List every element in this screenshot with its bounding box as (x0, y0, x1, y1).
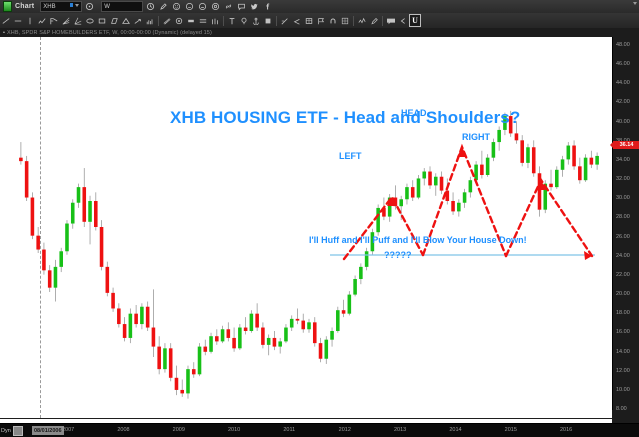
price-tick: 48.00 (616, 42, 630, 48)
flag-icon[interactable] (315, 14, 327, 27)
price-tick: 28.00 (616, 214, 630, 220)
table-icon[interactable] (303, 14, 315, 27)
price-tick: 16.00 (616, 329, 630, 335)
chart-canvas[interactable]: XHB HOUSING ETF - Head and Shoulders? LE… (0, 37, 612, 418)
date-tick: 2007 (62, 427, 74, 433)
date-tick: 2014 (449, 427, 461, 433)
balloon-icon[interactable] (238, 14, 250, 27)
app-logo-icon (3, 1, 12, 12)
smiley-neutral-icon[interactable] (184, 1, 195, 12)
vertical-line-icon[interactable] (24, 14, 36, 27)
price-tick: 40.00 (616, 119, 630, 125)
histogram-icon[interactable] (144, 14, 156, 27)
period-value: W (104, 4, 110, 10)
price-tick: 14.00 (616, 349, 630, 355)
fib-fan-icon[interactable] (60, 14, 72, 27)
twitter-icon[interactable] (249, 1, 260, 12)
comment-icon[interactable] (236, 1, 247, 12)
date-range-field[interactable]: 08/01/2006 (32, 426, 64, 435)
refresh-icon[interactable] (84, 1, 95, 12)
date-tick: 2008 (117, 427, 129, 433)
title-bar: Chart XHB W (0, 0, 639, 14)
pencil-icon[interactable] (158, 1, 169, 12)
symbol-indicator-icon (70, 3, 73, 7)
undo-icon[interactable] (397, 14, 409, 27)
left-shoulder-label: LEFT (339, 151, 362, 161)
toolbar-separator-5 (382, 16, 383, 26)
parallelogram-icon[interactable] (108, 14, 120, 27)
smiley-sad-icon[interactable] (197, 1, 208, 12)
date-tick: 2010 (228, 427, 240, 433)
arrow-left-icon[interactable] (291, 14, 303, 27)
price-tick: 18.00 (616, 310, 630, 316)
period-input[interactable]: W (101, 1, 143, 12)
zigzag-icon[interactable] (356, 14, 368, 27)
equal-bars-icon[interactable] (197, 14, 209, 27)
horizontal-line-icon[interactable] (12, 14, 24, 27)
crosshair-vertical-line (40, 37, 41, 418)
active-tool-button[interactable]: U (409, 14, 421, 27)
clock-icon[interactable] (145, 1, 156, 12)
price-tick: 10.00 (616, 387, 630, 393)
toolbar-separator-3 (276, 16, 277, 26)
toolbar-separator-4 (353, 16, 354, 26)
link-icon[interactable] (223, 1, 234, 12)
chevron-down-icon-2[interactable] (633, 2, 637, 5)
head-peak-arrow-icon (457, 147, 467, 157)
price-tick: 34.00 (616, 157, 630, 163)
eraser-icon[interactable] (368, 14, 380, 27)
ray-icon[interactable] (279, 14, 291, 27)
price-tick: 46.00 (616, 61, 630, 67)
price-tick: 22.00 (616, 272, 630, 278)
head-label: HEAD (401, 108, 427, 118)
anchor-icon[interactable] (250, 14, 262, 27)
rectangle-icon[interactable] (96, 14, 108, 27)
price-tick: 42.00 (616, 99, 630, 105)
axis-corner (612, 410, 639, 423)
date-tick: 2011 (283, 427, 295, 433)
instrument-info-text: XHB, SPDR S&P HOMEBUILDERS ETF, W, 00:00… (7, 30, 212, 36)
right-shoulder-label: RIGHT (462, 132, 490, 142)
facebook-icon[interactable] (262, 1, 273, 12)
trendline-icon[interactable] (0, 14, 12, 27)
date-tick: 2016 (560, 427, 572, 433)
chevron-down-icon[interactable] (75, 4, 79, 7)
bullet-icon: • (3, 30, 5, 36)
bars-pattern-icon[interactable] (185, 14, 197, 27)
chart-title-annotation: XHB HOUSING ETF - Head and Shoulders? (170, 108, 520, 128)
grid-icon[interactable] (339, 14, 351, 27)
toolbar-separator-2 (223, 16, 224, 26)
quote-annotation: I'll Huff and I'll Puff and I'll Blow Yo… (309, 235, 527, 245)
ellipse-icon[interactable] (84, 14, 96, 27)
chart-application: Chart XHB W (0, 0, 639, 436)
pitchfork-icon[interactable] (48, 14, 60, 27)
last-price-tag: 36.14 (613, 141, 639, 149)
target-icon[interactable] (210, 1, 221, 12)
pattern-overlay (0, 37, 612, 418)
smiley-icon[interactable] (171, 1, 182, 12)
date-axis[interactable]: Dyn 08/01/2006 2007200820092010201120122… (0, 423, 639, 437)
price-tick: 26.00 (616, 234, 630, 240)
price-tick: 44.00 (616, 80, 630, 86)
triangle-icon[interactable] (120, 14, 132, 27)
price-tick: 30.00 (616, 195, 630, 201)
price-tick: 24.00 (616, 253, 630, 259)
magnet-icon[interactable] (327, 14, 339, 27)
price-tick: 12.00 (616, 368, 630, 374)
polyline-icon[interactable] (36, 14, 48, 27)
callout-icon[interactable] (385, 14, 397, 27)
symbol-input[interactable]: XHB (40, 1, 82, 12)
dyn-handle-icon[interactable] (13, 426, 23, 436)
date-tick: 2012 (339, 427, 351, 433)
price-tick: 20.00 (616, 291, 630, 297)
gann-icon[interactable] (72, 14, 84, 27)
text-icon[interactable] (226, 14, 238, 27)
date-tick: 2013 (394, 427, 406, 433)
drawing-toolbar: U (0, 13, 639, 29)
regression-icon[interactable] (161, 14, 173, 27)
cycles-icon[interactable] (173, 14, 185, 27)
symbol-value: XHB (43, 4, 55, 10)
question-annotation: ????? (384, 250, 412, 260)
notes-icon[interactable] (262, 14, 274, 27)
step-bars-icon[interactable] (209, 14, 221, 27)
dyn-label: Dyn (1, 428, 11, 434)
dyn-button[interactable]: Dyn (1, 426, 23, 435)
instrument-info-line: • XHB, SPDR S&P HOMEBUILDERS ETF, W, 00:… (0, 28, 639, 37)
date-tick: 2015 (505, 427, 517, 433)
arrow-icon[interactable] (132, 14, 144, 27)
price-axis[interactable]: 48.0046.0044.0042.0040.0038.0034.0032.00… (612, 37, 639, 418)
app-title: Chart (15, 3, 34, 10)
price-tick: 32.00 (616, 176, 630, 182)
date-tick: 2009 (173, 427, 185, 433)
toolbar-separator-1 (158, 16, 159, 26)
